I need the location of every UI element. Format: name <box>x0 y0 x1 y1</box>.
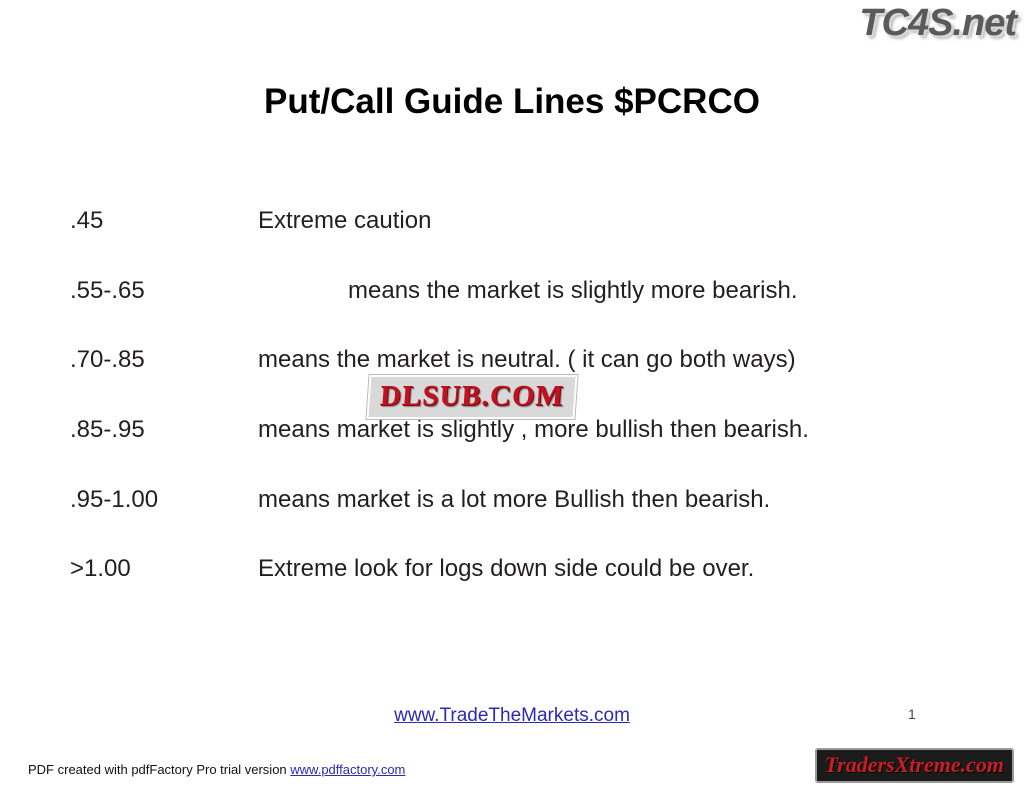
list-item: .45Extreme caution <box>70 205 970 237</box>
page-number: 1 <box>908 706 916 722</box>
list-item: .95-1.00means market is a lot more Bulli… <box>70 484 970 516</box>
pdf-notice-text: PDF created with pdfFactory Pro trial ve… <box>28 762 290 777</box>
guide-level-value: >1.00 <box>70 553 258 585</box>
slide-page: TC4S.net Put/Call Guide Lines $PCRCO .45… <box>0 0 1024 791</box>
guide-level-value: .85-.95 <box>70 414 258 446</box>
footer-site-link[interactable]: www.TradeTheMarkets.com <box>394 705 630 726</box>
brand-top-right-logo: TC4S.net <box>859 2 1016 45</box>
guide-level-description: Extreme look for logs down side could be… <box>258 555 754 582</box>
guide-level-value: .45 <box>70 205 258 237</box>
page-title: Put/Call Guide Lines $PCRCO <box>0 82 1024 122</box>
pdffactory-link[interactable]: www.pdffactory.com <box>290 762 405 777</box>
guide-level-description: means market is a lot more Bullish then … <box>258 486 770 513</box>
guide-level-description: Extreme caution <box>258 207 431 234</box>
brand-bottom-right-logo: TradersXtreme.com <box>815 748 1014 783</box>
guide-level-description: means market is slightly , more bullish … <box>258 416 809 443</box>
guide-level-description: means the market is slightly more bearis… <box>258 277 798 304</box>
guide-level-value: .95-1.00 <box>70 484 258 516</box>
pdf-factory-notice: PDF created with pdfFactory Pro trial ve… <box>28 762 405 777</box>
footer-site-link-wrap: www.TradeTheMarkets.com <box>0 705 1024 727</box>
guide-level-value: .55-.65 <box>70 275 258 307</box>
list-item: >1.00Extreme look for logs down side cou… <box>70 553 970 585</box>
guide-level-value: .70-.85 <box>70 344 258 376</box>
dlsub-watermark-stamp: DLSUB.COM <box>366 375 577 419</box>
list-item: .70-.85means the market is neutral. ( it… <box>70 344 970 376</box>
list-item: .55-.65means the market is slightly more… <box>70 275 970 307</box>
guide-level-description: means the market is neutral. ( it can go… <box>258 346 796 373</box>
